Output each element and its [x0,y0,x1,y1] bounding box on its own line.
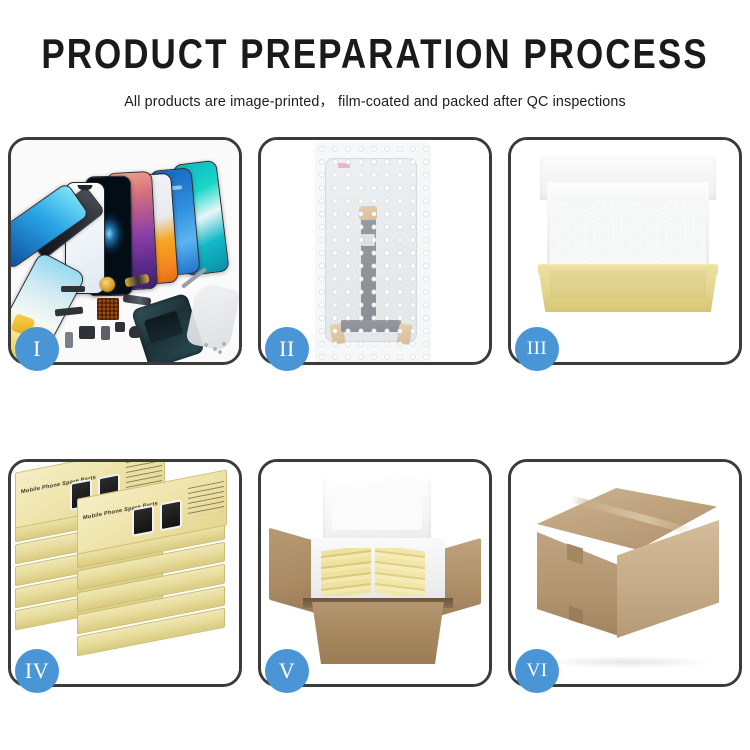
page-subtitle: All products are image-printed， film-coa… [0,90,750,111]
carton-front-panel-icon [303,602,453,664]
speaker-module-icon [129,326,141,338]
process-step-panel-5[interactable]: V [258,459,492,687]
page-title: PRODUCT PREPARATION PROCESS [0,34,750,77]
retail-box-column-left-icon [321,548,371,596]
connector-strip-icon [55,307,84,317]
process-step-panel-2[interactable]: II [258,137,492,365]
lid-spec-lines-front-icon [188,481,224,518]
page-header: PRODUCT PREPARATION PROCESS All products… [0,0,750,111]
process-step-panel-3[interactable]: III [508,137,742,365]
step-badge-4: IV [15,649,59,693]
lid-window-right-front-icon [160,499,182,531]
retail-box-column-right-icon [375,548,425,596]
step-badge-2: II [265,327,309,371]
copper-coil-icon [100,277,115,292]
flex-cable-secondary-icon [123,294,152,306]
button-flex-icon [65,332,73,348]
step-badge-6: VI [515,649,559,693]
step-badge-5: V [265,649,309,693]
packed-retail-boxes [321,548,435,596]
screws-icon [203,342,229,354]
step-badge-3: III [515,327,559,371]
camera-module-icon [79,326,95,339]
sim-tray-icon [101,326,110,340]
process-step-panel-6[interactable]: VI [508,459,742,687]
process-step-panel-4[interactable]: Mobile Phone Spare Parts Mobile Phone Sp… [8,459,242,687]
process-step-grid: I II III [8,137,742,687]
foam-lid-icon [323,478,431,546]
lid-window-left-front-icon [132,505,154,537]
chip-grid-icon [97,298,119,320]
vibrator-motor-icon [115,322,125,332]
step-badge-1: I [15,327,59,371]
inner-box-base-icon [538,266,718,312]
carton-shadow [541,656,713,668]
antenna-strip-icon [61,286,85,292]
bubble-wrap-bag-icon [317,144,429,362]
process-step-panel-1[interactable]: I [8,137,242,365]
